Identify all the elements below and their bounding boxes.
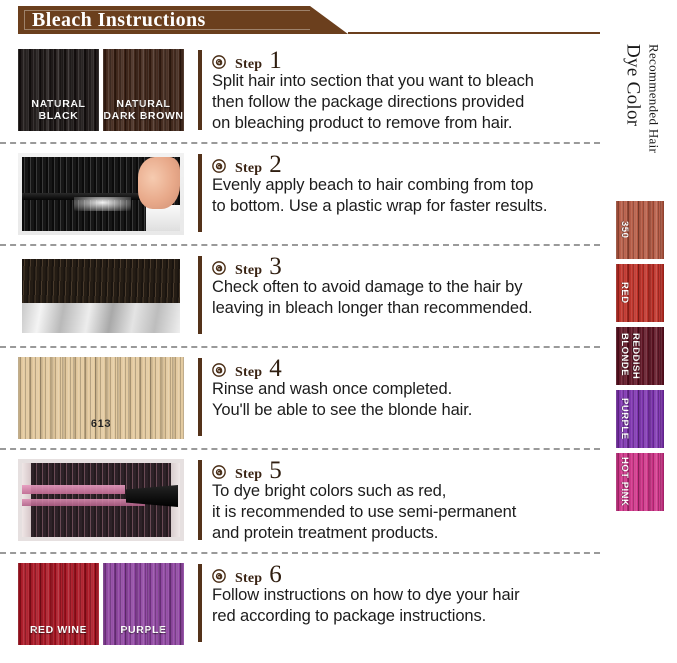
dye-swatch: PURPLE	[616, 390, 664, 448]
sidebar-title: Recommended Hair Dye Color	[606, 44, 677, 194]
step-media	[18, 153, 184, 235]
spiral-icon	[212, 363, 226, 377]
dye-swatch-label-wrap: HOT PINK	[616, 453, 664, 511]
step-text: Step1Split hair into section that you wa…	[198, 48, 600, 134]
dye-swatch-label: REDDISH BLONDE	[619, 333, 641, 379]
dye-swatch-label: PURPLE	[619, 398, 630, 440]
spiral-icon	[212, 159, 226, 173]
dye-swatch-label-wrap: RED	[616, 264, 664, 322]
step-text: Step3Check often to avoid damage to the …	[198, 254, 600, 338]
step-heading: Step2	[212, 152, 600, 174]
hair-color-swatch: NATURAL BLACK	[18, 49, 99, 131]
step-heading: Step1	[212, 48, 600, 70]
foil-sheet	[22, 303, 180, 333]
step-body: Follow instructions on how to dye your h…	[212, 585, 600, 627]
step-number: 1	[269, 48, 282, 73]
step-media: RED WINEPURPLE	[18, 563, 184, 645]
step-photo	[18, 459, 184, 541]
step-text: Step6Follow instructions on how to dye y…	[198, 562, 600, 646]
step-number: 4	[269, 356, 282, 381]
bleach-product	[74, 197, 130, 211]
step-body: Rinse and wash once completed. You'll be…	[212, 379, 600, 421]
step-text: Step5To dye bright colors such as red, i…	[198, 458, 600, 544]
spiral-icon	[212, 465, 226, 479]
bleach-instructions-page: Bleach Instructions NATURAL BLACKNATURAL…	[0, 0, 677, 663]
step-number: 3	[269, 254, 282, 279]
step-number: 6	[269, 562, 282, 587]
swatch-label: NATURAL DARK BROWN	[103, 98, 184, 122]
header-rule	[348, 32, 600, 34]
step-media	[18, 459, 184, 541]
dye-swatch: RED	[616, 264, 664, 322]
step-body: Check often to avoid damage to the hair …	[212, 277, 600, 319]
dye-swatch-label: 350	[619, 221, 630, 238]
step-row: 613Step4Rinse and wash once completed. Y…	[0, 346, 600, 448]
step-number: 2	[269, 152, 282, 177]
step-text: Step4Rinse and wash once completed. You'…	[198, 356, 600, 440]
hand	[138, 157, 180, 209]
hair-color-swatch: RED WINE	[18, 563, 99, 645]
steps-list: NATURAL BLACKNATURAL DARK BROWNStep1Spli…	[0, 40, 600, 654]
step-media	[18, 255, 184, 337]
dye-swatch: REDDISH BLONDE	[616, 327, 664, 385]
dye-swatch-list: 350REDREDDISH BLONDEPURPLEHOT PINK	[616, 201, 664, 516]
step-heading: Step6	[212, 562, 600, 584]
hair-texture	[22, 259, 180, 303]
dye-swatch-label-wrap: 350	[616, 201, 664, 259]
sidebar-title-line2: Dye Color	[622, 44, 644, 126]
step-row: RED WINEPURPLEStep6Follow instructions o…	[0, 552, 600, 654]
step-body: To dye bright colors such as red, it is …	[212, 481, 600, 544]
dye-swatch: 350	[616, 201, 664, 259]
dye-swatch-label-wrap: REDDISH BLONDE	[616, 327, 664, 385]
sidebar-title-line1: Recommended Hair	[646, 44, 662, 153]
step-media: NATURAL BLACKNATURAL DARK BROWN	[18, 49, 184, 131]
dye-streak	[22, 485, 125, 494]
step-text: Step2Evenly apply beach to hair combing …	[198, 152, 600, 236]
hair-color-swatch: PURPLE	[103, 563, 184, 645]
step-photo	[18, 255, 184, 337]
swatch-label: NATURAL BLACK	[18, 98, 99, 122]
step-heading: Step5	[212, 458, 600, 480]
dye-swatch-label-wrap: PURPLE	[616, 390, 664, 448]
step-heading: Step4	[212, 356, 600, 378]
swatch-label: 613	[18, 418, 184, 430]
step-row: Step3Check often to avoid damage to the …	[0, 244, 600, 346]
recommended-dye-sidebar: Recommended Hair Dye Color 350REDREDDISH…	[606, 0, 677, 663]
step-row: Step5To dye bright colors such as red, i…	[0, 448, 600, 552]
page-title: Bleach Instructions	[32, 9, 206, 32]
swatch-label: RED WINE	[18, 624, 99, 636]
hair-color-swatch: NATURAL DARK BROWN	[103, 49, 184, 131]
dye-swatch: HOT PINK	[616, 453, 664, 511]
step-media: 613	[18, 357, 184, 439]
step-number: 5	[269, 458, 282, 483]
spiral-icon	[212, 569, 226, 583]
step-row: NATURAL BLACKNATURAL DARK BROWNStep1Spli…	[0, 40, 600, 142]
step-body: Split hair into section that you want to…	[212, 71, 600, 134]
step-photo	[18, 153, 184, 235]
dye-swatch-label: HOT PINK	[619, 457, 630, 506]
hair-color-swatch: 613	[18, 357, 184, 439]
step-body: Evenly apply beach to hair combing from …	[212, 175, 600, 217]
swatch-label: PURPLE	[103, 624, 184, 636]
dye-swatch-label: RED	[619, 282, 630, 304]
spiral-icon	[212, 261, 226, 275]
header-banner: Bleach Instructions	[18, 6, 348, 34]
step-row: Step2Evenly apply beach to hair combing …	[0, 142, 600, 244]
step-heading: Step3	[212, 254, 600, 276]
spiral-icon	[212, 55, 226, 69]
